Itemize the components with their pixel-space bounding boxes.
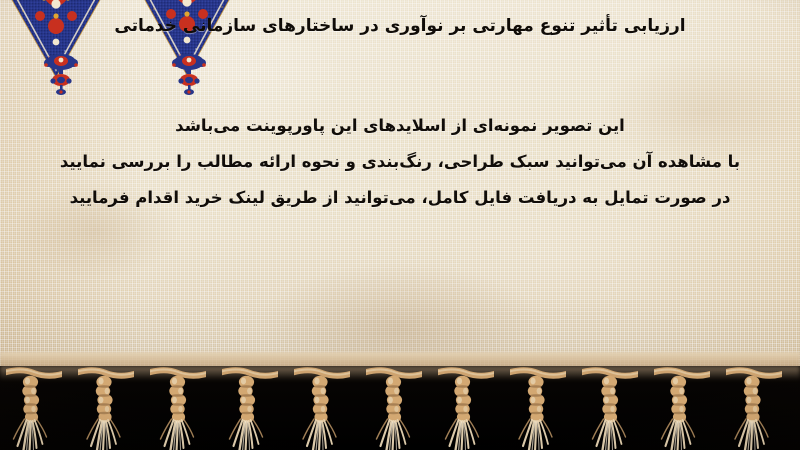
slide-canvas: ارزیابی تأثیر تنوع مهارتی بر نوآوری در س…	[0, 0, 800, 450]
slide-title: ارزیابی تأثیر تنوع مهارتی بر نوآوری در س…	[0, 14, 800, 39]
slide-body: این تصویر نمونه‌ای از اسلایدهای این پاور…	[0, 108, 800, 216]
body-line-2: با مشاهده آن می‌توانید سبک طراحی، رنگ‌بن…	[30, 144, 770, 180]
body-line-3: در صورت تمایل به دریافت فایل کامل، می‌تو…	[30, 180, 770, 216]
fringe-tassel	[150, 366, 206, 448]
fringe-tassel	[510, 366, 566, 448]
fringe-tassel	[366, 366, 422, 448]
body-line-1: این تصویر نمونه‌ای از اسلایدهای این پاور…	[30, 108, 770, 144]
fringe-tassel	[654, 366, 710, 448]
persian-floral-drop-motif-right	[168, 52, 210, 98]
persian-floral-drop-motif-left	[40, 52, 82, 98]
fringe-tassel	[438, 366, 494, 448]
fringe-tassel	[6, 366, 62, 448]
fringe-tassel	[78, 366, 134, 448]
fringe-tassel	[222, 366, 278, 448]
fringe-tassel	[726, 366, 782, 448]
knotted-carpet-fringe	[0, 366, 800, 450]
fringe-tassel	[294, 366, 350, 448]
fringe-tassel	[582, 366, 638, 448]
